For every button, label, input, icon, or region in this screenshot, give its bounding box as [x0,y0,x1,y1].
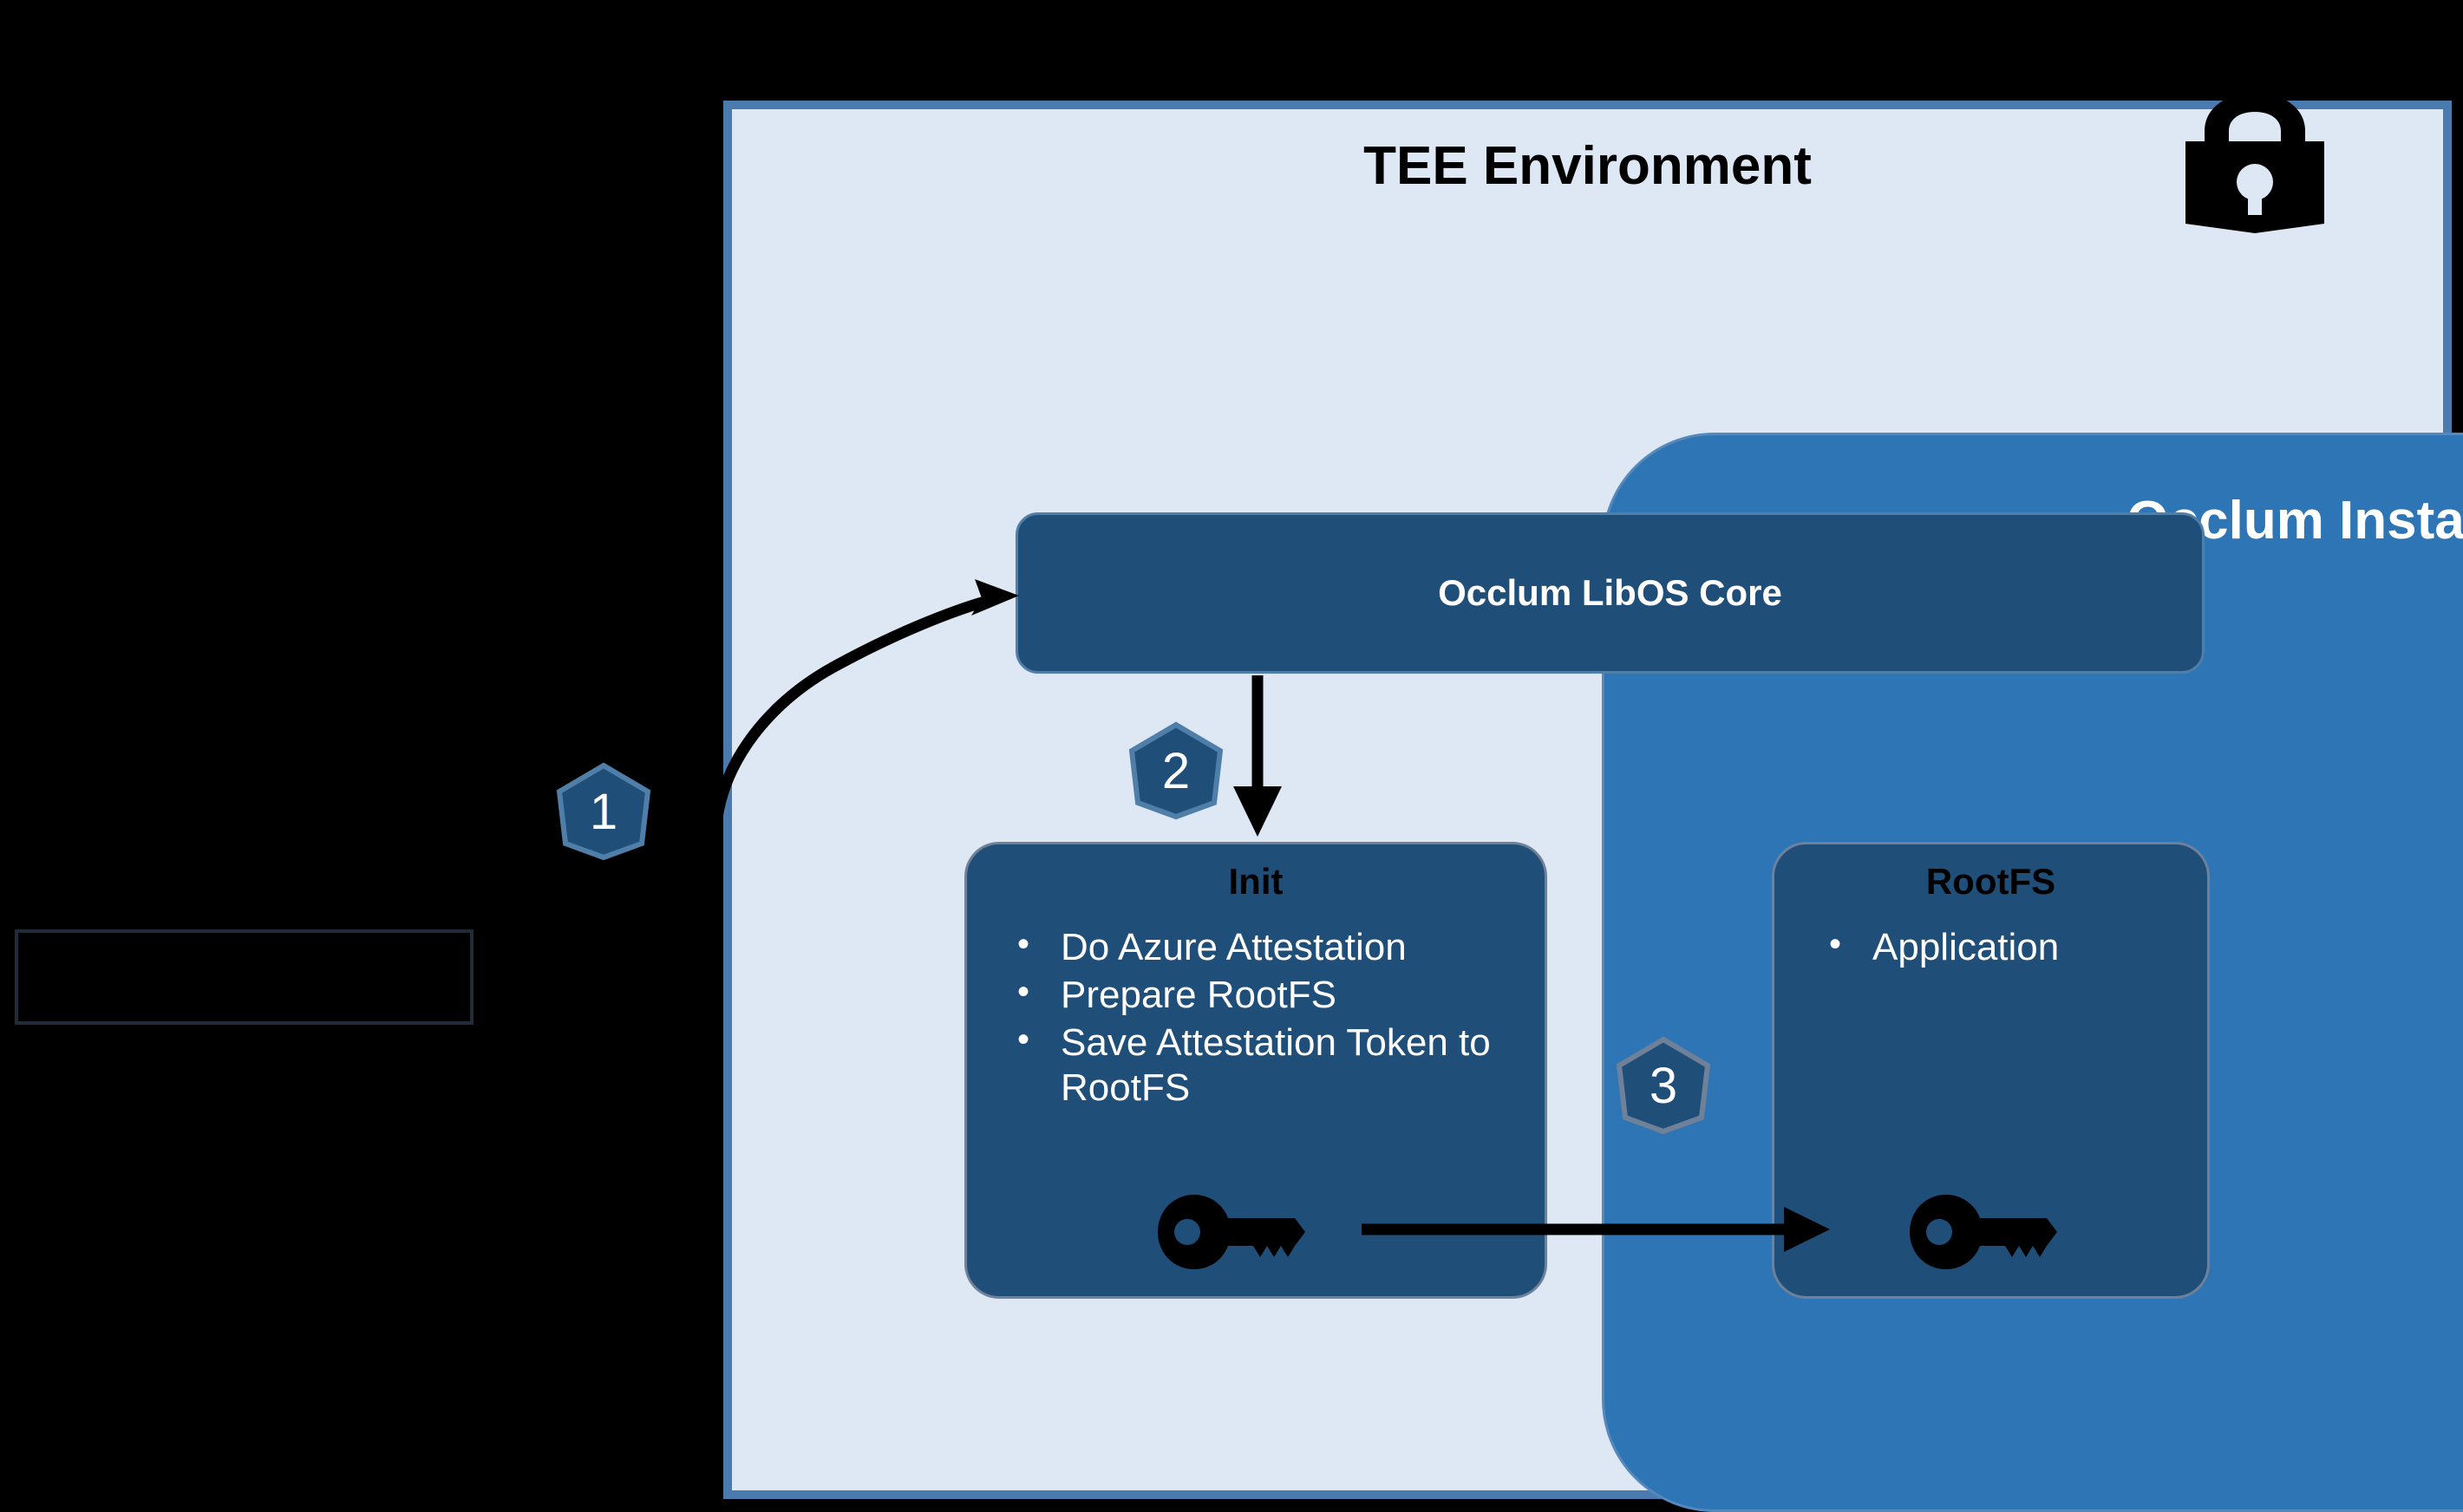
list-item: Prepare RootFS [1010,973,1527,1019]
step-badge-2: 2 [1125,722,1227,819]
heptagon-shape [552,763,655,860]
list-item: Save Attestation Token to RootFS [1010,1020,1527,1112]
init-panel-title: Init [967,861,1545,903]
step-badge-1: 1 [552,763,655,860]
heptagon-shape [1125,722,1227,819]
padlock-icon [2166,89,2343,258]
list-item: Application [1822,925,2190,971]
heptagon-shape [1612,1037,1715,1134]
key-icon [1908,1193,2064,1271]
occlum-libos-core-box: Occlum LibOS Core [1016,512,2205,674]
key-icon [1156,1193,1312,1271]
step-badge-3: 3 [1612,1037,1715,1134]
placeholder-box [15,929,474,1025]
occlum-libos-core-label: Occlum LibOS Core [1438,572,1782,614]
rootfs-panel-title: RootFS [1774,861,2207,903]
list-item: Do Azure Attestation [1010,925,1527,971]
init-bullet-list: Do Azure Attestation Prepare RootFS Save… [1010,925,1527,1113]
rootfs-bullet-list: Application [1822,925,2190,973]
diagram-canvas: TEE Environment Occlum Instance Occlum L… [0,0,2463,1499]
